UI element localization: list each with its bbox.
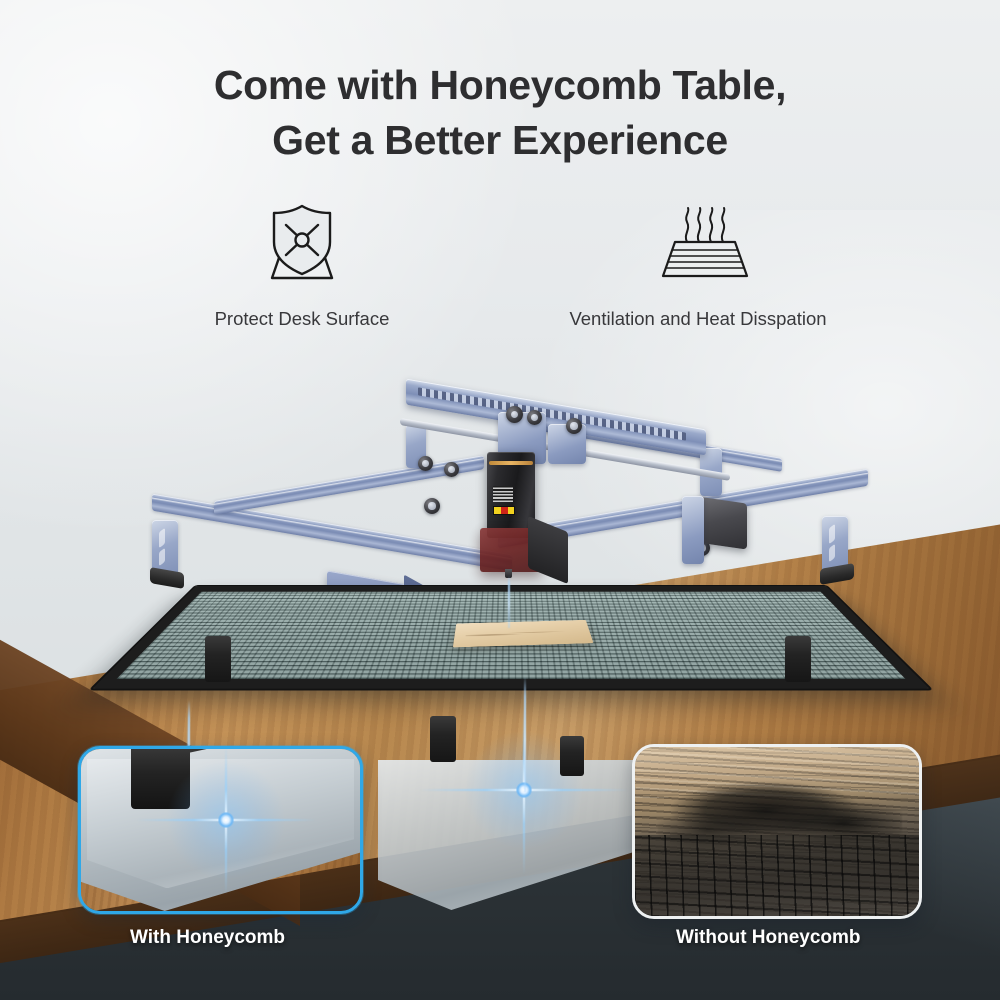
comparison-inset-with-honeycomb — [78, 746, 363, 914]
pulley-carriage-right — [444, 462, 459, 477]
frame-rail-back-left — [214, 455, 484, 515]
pulley-upper-left — [506, 406, 523, 423]
frame-foot-left — [150, 567, 184, 589]
honeycomb-leg — [560, 736, 584, 776]
stepper-motor — [697, 496, 747, 549]
laser-beam-through-right — [524, 676, 526, 792]
laser-module-band — [489, 461, 533, 465]
honeycomb-leg — [430, 716, 456, 762]
motor-mount-plate — [682, 496, 704, 564]
honeycomb-table — [196, 586, 826, 766]
engraved-pattern — [465, 628, 572, 640]
frame-rail-front-left — [152, 494, 512, 572]
comparison-inset-without-honeycomb — [632, 744, 922, 919]
pulley-idler — [566, 418, 582, 434]
honeycomb-leg — [205, 636, 231, 682]
pulley-lower-left — [424, 498, 440, 514]
honeycomb-leg — [785, 636, 811, 682]
inset-wood-cracks — [635, 835, 919, 916]
laser-beam-upper — [508, 576, 510, 628]
product-feature-image: Come with Honeycomb Table, Get a Better … — [0, 0, 1000, 1000]
pulley-upper-right — [527, 410, 542, 425]
caption-without-honeycomb: Without Honeycomb — [676, 927, 861, 949]
inset-honeycomb-leg — [131, 746, 190, 809]
laser-module-label — [493, 486, 513, 502]
caption-with-honeycomb: With Honeycomb — [130, 927, 285, 949]
laser-warning-sticker — [493, 506, 515, 515]
workpiece-board — [453, 620, 594, 647]
pulley-carriage-left — [418, 456, 433, 471]
